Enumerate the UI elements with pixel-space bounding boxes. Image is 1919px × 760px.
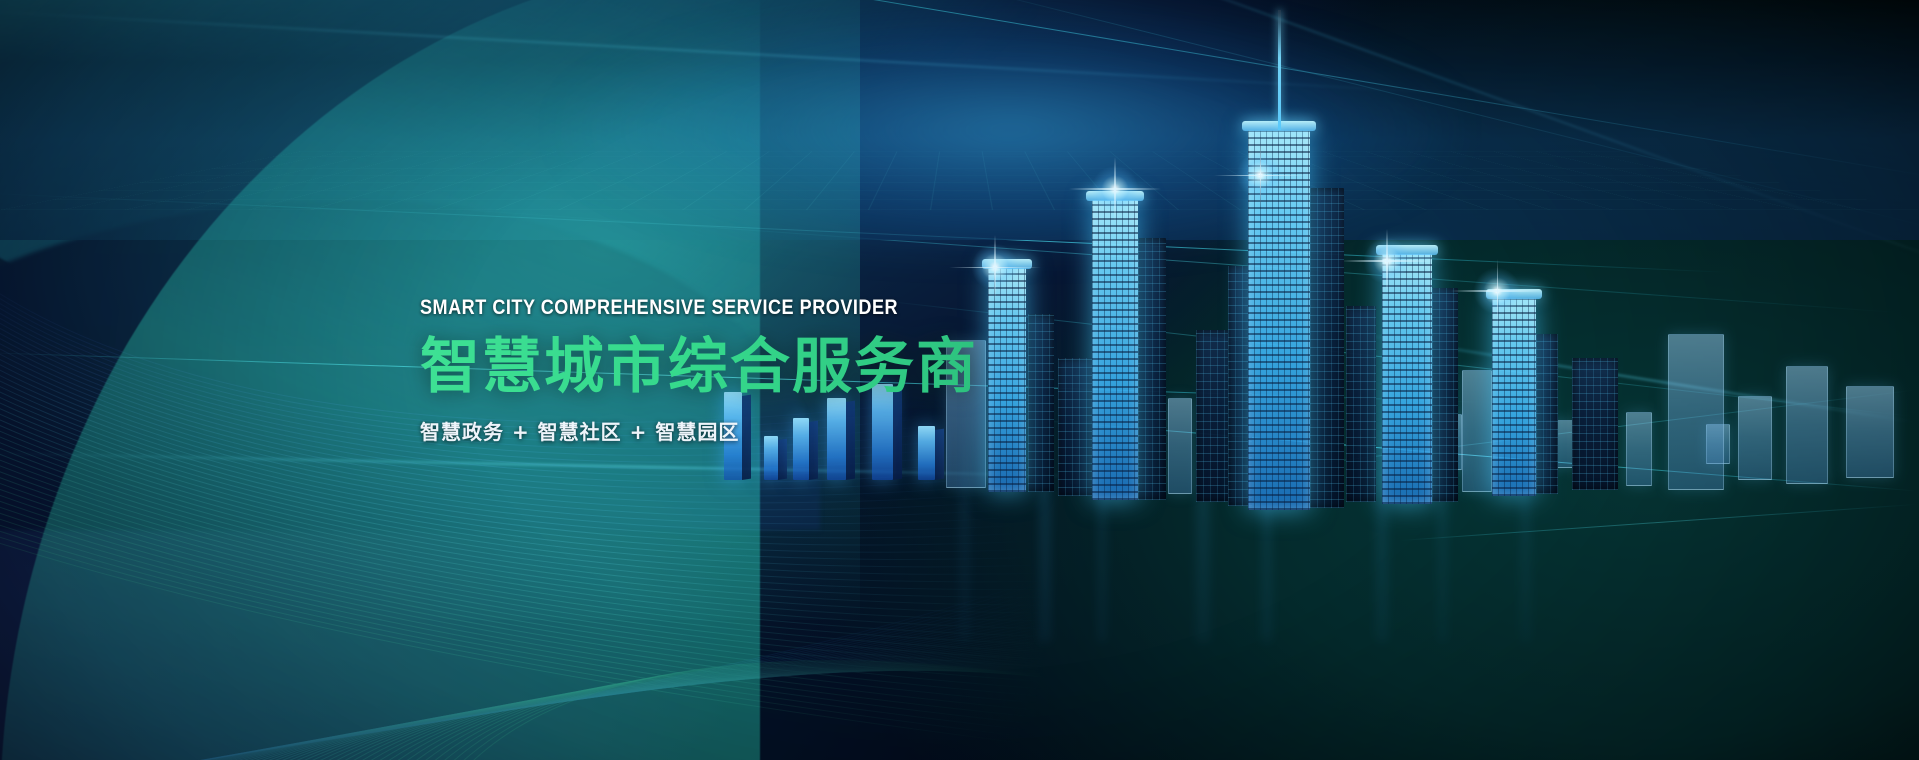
mesh-arc-b-34: [293, 670, 1500, 760]
building-31: [1706, 424, 1730, 464]
mesh-arc-b-22: [154, 585, 1500, 760]
haze-streak-3: [1262, 172, 1272, 642]
haze-streak-5: [1438, 342, 1447, 642]
building-16: [1228, 266, 1252, 506]
mesh-arc-b-11: [27, 472, 1500, 760]
mesh-arc-b-25: [189, 616, 1500, 760]
mesh-arc-b-31: [258, 670, 1500, 760]
building-25: [1668, 334, 1724, 490]
mesh-arc-b-23: [166, 595, 1500, 760]
mesh-arc-b-20: [131, 564, 1500, 760]
mesh-arc-b-10: [16, 462, 1500, 760]
light-beam-0: [0, 10, 1478, 96]
mesh-arc-b-45: [420, 661, 1500, 760]
mesh-arc-b-32: [270, 670, 1500, 760]
building-cap-18: [1376, 245, 1438, 255]
building-26: [1738, 396, 1772, 480]
light-beam-4: [0, 192, 1728, 273]
mesh-arc-42: [0, 490, 1500, 760]
mesh-arc-41: [0, 483, 1500, 754]
mesh-arc-b-24: [177, 605, 1500, 760]
mesh-arc-b-14: [62, 503, 1500, 760]
mesh-arc-b-42: [385, 664, 1500, 760]
hero-subline: 智慧政务 + 智慧社区 + 智慧园区: [420, 416, 1180, 445]
mesh-arc-b-15: [73, 513, 1500, 760]
building-30: [1546, 420, 1574, 468]
light-beam-11: [1340, 330, 1913, 423]
mesh-arc-43: [0, 497, 1500, 760]
mesh-arc-b-18: [108, 544, 1500, 760]
mesh-arc-35: [0, 443, 1500, 685]
building-13: [1196, 330, 1232, 502]
mesh-arc-45: [0, 510, 1500, 760]
mesh-arc-b-33: [281, 670, 1500, 760]
lens-flare-21: [1474, 268, 1520, 314]
haze-streak-6: [1520, 382, 1531, 642]
mesh-arc-b-27: [212, 636, 1500, 760]
mesh-arc-36: [0, 450, 1500, 696]
mesh-arc-b-4: [0, 401, 1500, 760]
light-beam-12: [1400, 504, 1919, 541]
building-28: [1846, 386, 1894, 478]
light-beam-2: [980, 0, 1919, 233]
lens-flare-10: [1092, 166, 1138, 212]
light-beam-8: [0, 452, 1100, 477]
building-cap-14: [1242, 121, 1316, 131]
ground-perspective-grid: [0, 151, 1919, 210]
building-17: [1346, 306, 1376, 502]
mesh-arc-b-12: [39, 483, 1500, 760]
hero-headline: 智慧城市综合服务商: [420, 335, 1180, 400]
mesh-arc-b-35: [304, 670, 1500, 760]
mesh-arc-33: [0, 430, 1500, 665]
mesh-arc-32: [0, 423, 1500, 656]
mesh-arc-34: [0, 437, 1500, 675]
building-24: [1626, 412, 1652, 486]
building-22: [1536, 334, 1558, 494]
mesh-arc-b-29: [235, 656, 1500, 760]
mesh-arc-44: [0, 503, 1500, 760]
mesh-arc-b-6: [0, 421, 1500, 760]
building-29: [1432, 414, 1462, 470]
building-14: [1248, 130, 1310, 510]
mesh-arc-b-30: [247, 667, 1500, 760]
mesh-arc-b-43: [397, 663, 1500, 760]
building-18: [1382, 254, 1432, 504]
mesh-arc-b-21: [143, 575, 1500, 760]
lens-flare-18: [1364, 238, 1410, 284]
tower-spire-14: [1278, 10, 1281, 130]
mesh-arc-b-37: [328, 669, 1500, 760]
mesh-arc-b-36: [316, 669, 1500, 760]
haze-streak-4: [1376, 282, 1388, 642]
mesh-arc-39: [0, 470, 1500, 731]
building-20: [1462, 370, 1492, 492]
mesh-arc-b-8: [0, 442, 1500, 760]
building-cap-10: [1086, 191, 1144, 201]
light-beam-1: [700, 0, 1919, 179]
mesh-arc-b-26: [200, 626, 1500, 760]
building-19: [1432, 288, 1458, 502]
building-cap-21: [1486, 289, 1542, 299]
mesh-arc-b-9: [4, 452, 1500, 760]
mesh-arc-b-16: [85, 524, 1500, 760]
building-27: [1786, 366, 1828, 484]
mesh-arc-b-7: [0, 432, 1500, 760]
mesh-arc-31: [0, 417, 1500, 647]
building-23: [1572, 358, 1618, 490]
hero-eyebrow: SMART CITY COMPREHENSIVE SERVICE PROVIDE…: [420, 297, 1074, 318]
building-21: [1492, 298, 1536, 496]
mesh-arc-b-5: [0, 411, 1500, 760]
haze-streak-2: [1196, 342, 1210, 642]
lens-flare-14: [1237, 152, 1283, 198]
mesh-arc-b-17: [96, 534, 1500, 760]
mesh-arc-b-28: [224, 646, 1500, 760]
building-cap-7: [982, 259, 1032, 269]
ground-plane: [0, 0, 1919, 240]
lens-flare-7: [972, 244, 1018, 290]
mesh-arc-37: [0, 457, 1500, 708]
light-beam-3: [1119, 0, 1919, 263]
mesh-arc-b-40: [362, 666, 1500, 760]
mesh-arc-b-13: [50, 493, 1500, 760]
mesh-arc-b-38: [339, 668, 1500, 760]
mesh-arc-38: [0, 463, 1500, 719]
mesh-arc-b-39: [351, 667, 1500, 760]
mesh-arc-40: [0, 477, 1500, 743]
hero-text-block: SMART CITY COMPREHENSIVE SERVICE PROVIDE…: [420, 297, 1180, 445]
mesh-arc-b-41: [374, 665, 1500, 760]
mesh-arc-b-3: [0, 391, 1500, 760]
mesh-arc-b-19: [120, 554, 1500, 760]
mesh-arc-b-44: [408, 662, 1500, 760]
smart-city-hero-banner: SMART CITY COMPREHENSIVE SERVICE PROVIDE…: [0, 0, 1919, 760]
light-beam-10: [1260, 390, 1915, 471]
building-15: [1310, 188, 1344, 508]
ground-glow: [560, 0, 1460, 260]
